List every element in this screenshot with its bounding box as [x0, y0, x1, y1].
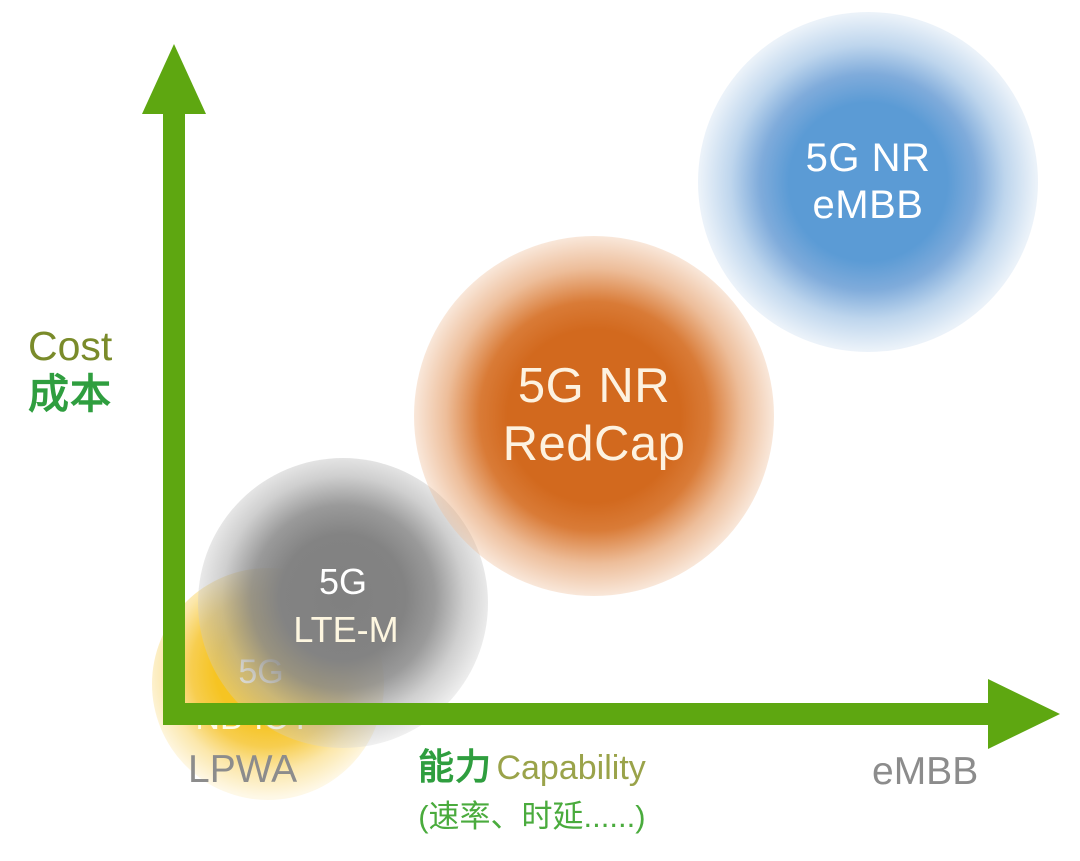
y-axis-line [163, 110, 185, 725]
y-axis-title-zh: 成本 [28, 370, 112, 418]
bubble-label-line-2: eMBB [813, 182, 924, 229]
bubble-label-line-1: 5G NR [518, 358, 670, 416]
x-axis-title-zh: 能力 [418, 746, 492, 787]
bubble-label-line-1: 5G NR [806, 135, 931, 182]
x-axis-line [163, 703, 995, 725]
bubble-5g-nr-redcap[interactable]: 5G NR RedCap [414, 236, 774, 596]
y-axis-title-en: Cost [28, 322, 112, 370]
x-axis-arrow-icon [988, 679, 1060, 749]
y-axis-title: Cost 成本 [28, 322, 112, 419]
bubble-5g-nr-embb[interactable]: 5G NR eMBB [698, 12, 1038, 352]
x-axis-start-label: LPWA [188, 748, 297, 792]
y-axis-arrow-icon [142, 44, 206, 114]
bubble-label-line-1: 5G [319, 561, 367, 603]
diagram-canvas: 5G NR eMBB 5G NR RedCap 5G LTE-M 5G NB-I… [0, 0, 1080, 861]
bubble-label-line-2: RedCap [503, 416, 686, 474]
x-axis-title-en: Capability [496, 749, 645, 787]
x-axis-title-sub: (速率、时延......) [418, 798, 646, 837]
bubble-label-line-2: LTE-M [293, 609, 398, 651]
x-axis-title-row: 能力 Capability [418, 744, 646, 790]
x-axis-end-label: eMBB [872, 750, 978, 794]
x-axis-title: 能力 Capability (速率、时延......) [418, 744, 646, 836]
